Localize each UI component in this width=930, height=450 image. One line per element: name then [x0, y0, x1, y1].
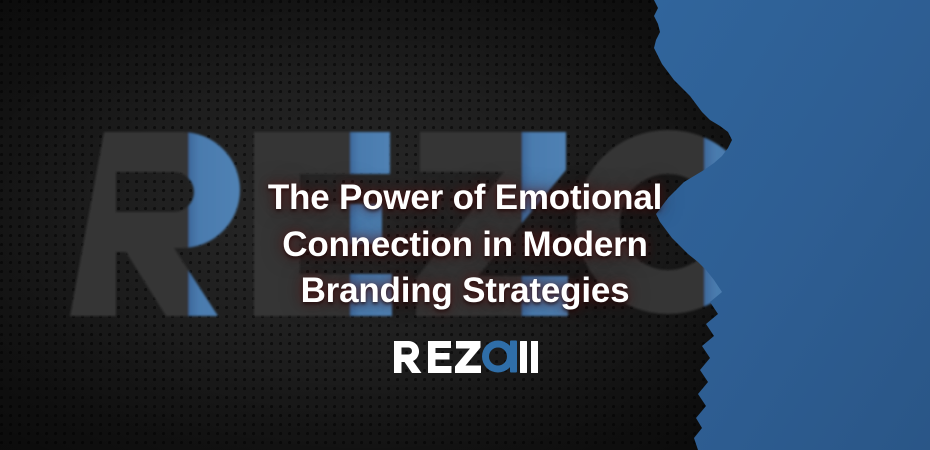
article-header-banner: The Power of Emotional Connection in Mod… [0, 0, 930, 450]
a-circle-mark [482, 341, 517, 373]
headline-line-3: Branding Strategies [170, 268, 760, 314]
rezaid-logo[interactable] [0, 340, 930, 374]
headline: The Power of Emotional Connection in Mod… [0, 175, 930, 314]
headline-line-1: The Power of Emotional [170, 175, 760, 221]
headline-line-2: Connection in Modern [170, 222, 760, 268]
